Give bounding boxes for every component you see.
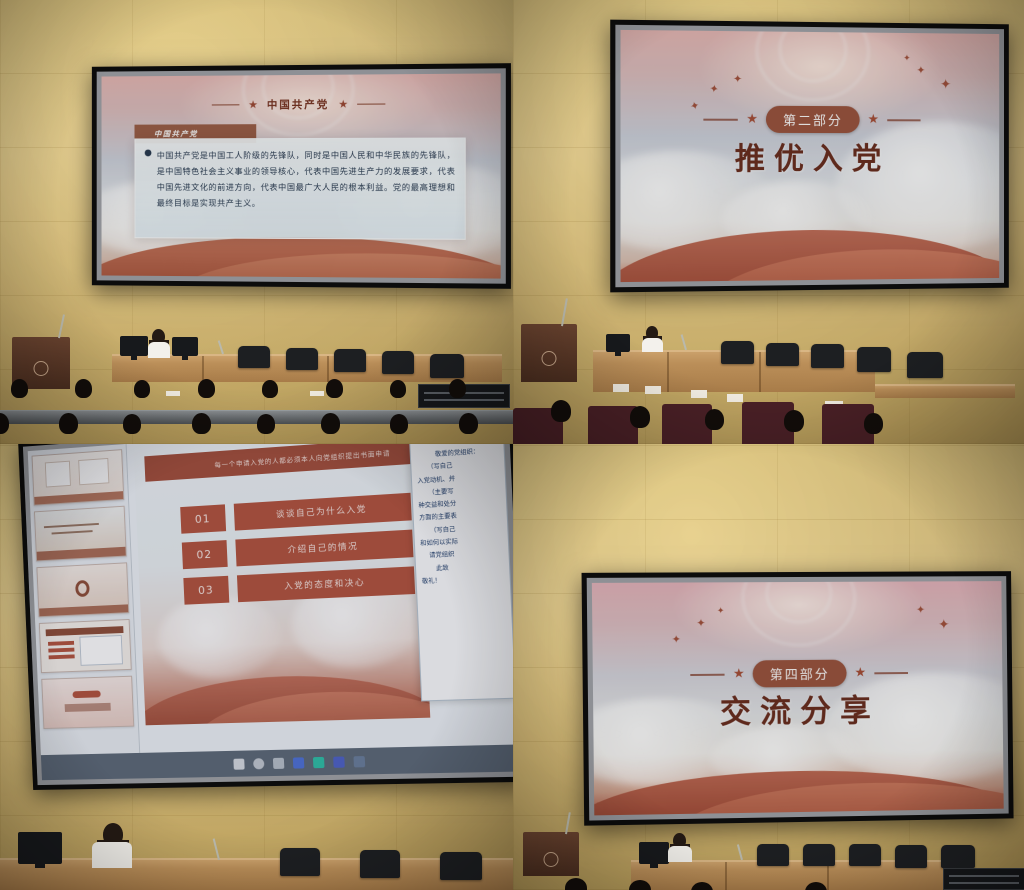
- bird-icon: ✦: [733, 74, 742, 85]
- desk-paper: [166, 391, 180, 396]
- podium-microphone: [58, 314, 64, 338]
- screen-bezel: ★ 中国共产党 ★ 中国共产党 ● 中国共产党是中国工人阶级的先锋队，同时是中国…: [97, 68, 506, 283]
- audience-head: [864, 413, 883, 434]
- speaker-monitor: [639, 842, 669, 864]
- panel-table: [0, 858, 513, 890]
- panel-chair: [382, 351, 414, 374]
- slide-surface: ★ 中国共产党 ★ 中国共产党 ● 中国共产党是中国工人阶级的先锋队，同时是中国…: [102, 73, 501, 278]
- audience-head: [134, 380, 150, 398]
- desk-paper: [310, 391, 324, 396]
- table-microphone: [737, 844, 743, 860]
- audience-head: [75, 379, 92, 398]
- section-title: 交流分享: [593, 683, 1003, 733]
- section-title: 推优入党: [621, 133, 1000, 178]
- slide-editing-stage: 每一个申请入党的人都必须本人向党组织提出书面申请 01 谈谈自己为什么入党 02…: [126, 444, 513, 753]
- audience-head: [784, 410, 804, 432]
- star-icon: ★: [854, 667, 866, 680]
- panel-top-left: ★ 中国共产党 ★ 中国共产党 ● 中国共产党是中国工人阶级的先锋队，同时是中国…: [0, 0, 513, 444]
- desk-paper: [691, 390, 707, 398]
- current-slide[interactable]: 每一个申请入党的人都必须本人向党组织提出书面申请 01 谈谈自己为什么入党 02…: [134, 444, 430, 725]
- table-seam: [827, 862, 829, 890]
- section-label: 第四部分: [753, 660, 847, 688]
- panel-chair: [334, 349, 366, 372]
- table-microphone: [218, 340, 224, 354]
- projection-screen-frame: ✦ ✦ ✦ ✦ ✦ ✦ ★ 第二部分 ★ 推优入党: [610, 20, 1009, 293]
- item-label: 入党的态度和决心: [237, 566, 415, 602]
- badge-rule-right: [874, 672, 908, 674]
- desk-paper: [613, 384, 629, 392]
- slide-surface: ✦ ✦ ✦ ✦ ✦ ✦ ★ 第二部分 ★ 推优入党: [621, 30, 1000, 282]
- panel-chair: [286, 348, 318, 370]
- audience-head: [630, 406, 650, 428]
- audience-head: [198, 379, 215, 398]
- slide-thumbnail[interactable]: [34, 506, 126, 562]
- mail-icon[interactable]: [312, 756, 324, 767]
- slide-thumbnail[interactable]: [32, 449, 124, 505]
- panel-chair: [238, 346, 270, 368]
- projection-screen-frame: ✦ ✦ ✦ ✦ ✦ ★ 第四部分 ★ 交流分享: [582, 571, 1014, 826]
- slide-thumbnail[interactable]: [41, 676, 134, 729]
- table-seam: [667, 352, 669, 392]
- audience-head: [123, 414, 141, 434]
- side-table: [875, 384, 1015, 398]
- projection-screen-frame: ★ 中国共产党 ★ 中国共产党 ● 中国共产党是中国工人阶级的先锋队，同时是中国…: [92, 63, 511, 289]
- rack-strip: [424, 399, 503, 401]
- audience-head: [551, 400, 571, 422]
- table-microphone: [213, 838, 220, 860]
- audience-head: [459, 413, 478, 434]
- speaker-body: [642, 338, 663, 352]
- stage-area: [0, 294, 513, 444]
- projection-screen-frame: 每一个申请入党的人都必须本人向党组织提出书面申请 01 谈谈自己为什么入党 02…: [18, 444, 513, 790]
- item-label: 介绍自己的情况: [235, 529, 413, 566]
- search-icon[interactable]: [253, 758, 264, 769]
- bird-icon: ✦: [940, 78, 951, 92]
- audience-head: [257, 414, 275, 434]
- audience-head: [192, 413, 211, 434]
- item-number: 02: [181, 540, 227, 569]
- audience-head: [705, 409, 724, 430]
- list-item[interactable]: 02 介绍自己的情况: [181, 529, 413, 569]
- bird-icon: ✦: [938, 618, 950, 632]
- task-view-icon[interactable]: [272, 757, 283, 768]
- panel-chair: [440, 852, 482, 880]
- rack-strip: [949, 882, 1019, 884]
- slide-thumbnail[interactable]: [36, 562, 128, 617]
- explorer-icon[interactable]: [292, 757, 304, 768]
- audience-head: [326, 379, 343, 398]
- stage-area: [513, 284, 1024, 444]
- slide-header: ★ 中国共产党 ★: [102, 96, 501, 113]
- bird-icon: ✦: [916, 604, 925, 615]
- speaker-body: [148, 342, 170, 358]
- panel-chair: [430, 354, 464, 378]
- panel-top-right: ✦ ✦ ✦ ✦ ✦ ✦ ★ 第二部分 ★ 推优入党: [513, 0, 1024, 444]
- podium-emblem: [34, 361, 49, 376]
- document-line: 敬礼！: [422, 572, 505, 589]
- slide-header-title: 中国共产党: [267, 97, 329, 112]
- item-number: 01: [180, 504, 226, 533]
- desk-paper: [727, 394, 743, 402]
- table-seam: [759, 352, 761, 392]
- bird-icon: ✦: [696, 617, 705, 628]
- start-icon[interactable]: [233, 758, 244, 769]
- panel-chair: [895, 845, 927, 868]
- bird-icon: ✦: [672, 633, 681, 644]
- podium: [521, 324, 577, 382]
- stage-area: [513, 812, 1024, 890]
- podium-microphone: [561, 298, 567, 326]
- slide-body-text: 中国共产党是中国工人阶级的先锋队，同时是中国人民和中华民族的先锋队，是中国特色社…: [157, 147, 456, 212]
- panel-chair: [721, 341, 754, 364]
- badge-rule-left: [704, 119, 738, 121]
- store-icon[interactable]: [333, 756, 345, 767]
- header-rule-right: [357, 103, 385, 105]
- speaker-monitor: [120, 336, 148, 356]
- table-microphone: [681, 334, 687, 350]
- audience-head: [11, 379, 28, 398]
- slide-body: ● 中国共产党是中国工人阶级的先锋队，同时是中国人民和中华民族的先锋队，是中国特…: [144, 147, 455, 212]
- slide-thumbnail[interactable]: [39, 619, 132, 673]
- bird-icon: ✦: [903, 55, 910, 64]
- panel-chair: [907, 352, 943, 378]
- star-icon: ★: [746, 113, 758, 126]
- panel-chair: [857, 347, 891, 372]
- edge-icon[interactable]: [353, 756, 365, 767]
- star-icon: ★: [868, 114, 879, 127]
- panel-chair: [757, 844, 789, 866]
- panel-chair: [766, 343, 799, 366]
- screen-bezel: 每一个申请入党的人都必须本人向党组织提出书面申请 01 谈谈自己为什么入党 02…: [23, 444, 513, 785]
- audience-head: [390, 414, 408, 434]
- bird-icon: ✦: [916, 65, 925, 76]
- section-badge-row: ★ 第二部分 ★: [621, 106, 1000, 134]
- audience-head: [565, 878, 587, 890]
- section-label: 第二部分: [766, 106, 860, 133]
- equipment-rack: [943, 868, 1024, 890]
- speaker-body: [92, 842, 132, 868]
- panel-chair: [941, 845, 975, 868]
- panel-chair: [811, 344, 844, 368]
- panel-bottom-left: 每一个申请入党的人都必须本人向党组织提出书面申请 01 谈谈自己为什么入党 02…: [0, 444, 513, 890]
- list-item[interactable]: 03 入党的态度和决心: [183, 566, 415, 604]
- audience-head: [59, 413, 78, 434]
- panel-bottom-right: ✦ ✦ ✦ ✦ ✦ ★ 第四部分 ★ 交流分享: [513, 444, 1024, 890]
- star-icon: ★: [248, 98, 258, 111]
- podium-emblem: [544, 852, 559, 867]
- numbered-list: 01 谈谈自己为什么入党 02 介绍自己的情况 03: [180, 493, 415, 614]
- table-seam: [327, 356, 329, 382]
- panel-chair: [803, 844, 835, 866]
- audience-head: [449, 379, 466, 398]
- desk-paper: [645, 386, 661, 394]
- speaker-body: [668, 846, 692, 862]
- item-number: 03: [183, 576, 229, 605]
- panel-chair: [849, 844, 881, 866]
- powerpoint-screen: 每一个申请入党的人都必须本人向党组织提出书面申请 01 谈谈自己为什么入党 02…: [28, 444, 513, 780]
- rack-strip: [949, 875, 1019, 877]
- star-icon: ★: [733, 668, 745, 681]
- audience-head: [262, 380, 278, 398]
- star-icon: ★: [338, 98, 348, 111]
- speaker-monitor: [606, 334, 630, 352]
- audience-head: [390, 380, 406, 398]
- speaker-monitor: [172, 337, 198, 356]
- speaker-monitor: [18, 832, 62, 864]
- header-rule-left: [212, 104, 240, 106]
- podium: [523, 832, 579, 876]
- table-seam: [725, 862, 727, 890]
- badge-rule-left: [691, 673, 725, 675]
- bird-icon: ✦: [717, 608, 725, 617]
- stage-area: [0, 800, 513, 890]
- table-seam: [202, 356, 204, 382]
- slide-surface: ✦ ✦ ✦ ✦ ✦ ★ 第四部分 ★ 交流分享: [592, 581, 1004, 815]
- badge-rule-right: [887, 119, 920, 121]
- screen-bezel: ✦ ✦ ✦ ✦ ✦ ★ 第四部分 ★ 交流分享: [587, 576, 1009, 820]
- podium-emblem: [542, 351, 557, 366]
- audience-head: [321, 413, 340, 434]
- podium-microphone: [565, 812, 570, 834]
- slide-thumbnail-pane[interactable]: [28, 444, 140, 755]
- photo-collage: ★ 中国共产党 ★ 中国共产党 ● 中国共产党是中国工人阶级的先锋队，同时是中国…: [0, 0, 1024, 890]
- document-preview[interactable]: 敬爱的党组织： （写自己 入党动机、并 （主要写 种交益和处分 方面的主要表 （…: [409, 444, 513, 701]
- screen-bezel: ✦ ✦ ✦ ✦ ✦ ✦ ★ 第二部分 ★ 推优入党: [615, 25, 1004, 287]
- panel-chair: [360, 850, 400, 878]
- panel-chair: [280, 848, 320, 876]
- powerpoint-window: 每一个申请入党的人都必须本人向党组织提出书面申请 01 谈谈自己为什么入党 02…: [28, 444, 513, 780]
- bullet-icon: ●: [144, 148, 152, 211]
